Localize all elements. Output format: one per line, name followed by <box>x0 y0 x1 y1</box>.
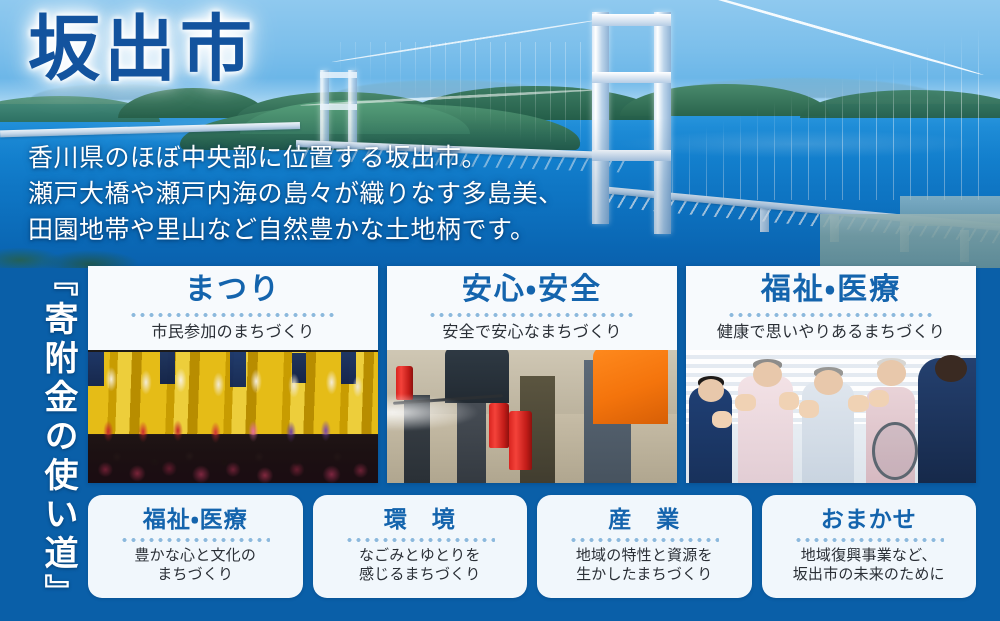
hero-description: 香川県のほぼ中央部に位置する坂出市。 瀬戸大橋や瀬戸内海の島々が織りなす多島美、… <box>28 140 564 248</box>
feature-card-header: 福祉・医療 健康で思いやりあるまちづくり <box>686 266 976 350</box>
festival-lanterns <box>88 358 378 411</box>
section-label-donation-usage: 『寄附金の使い道』 <box>22 262 74 614</box>
donation-option-description-line-1: 地域の特性と資源を <box>576 547 713 566</box>
raised-hand-3 <box>779 392 799 409</box>
extinguisher-spray <box>387 390 497 435</box>
donation-option-description-line-1: 豊かな心と文化の <box>134 547 256 566</box>
donation-option-description: 豊かな心と文化の まちづくり <box>134 547 256 585</box>
feature-card-subtitle: 安全で安心なまちづくり <box>393 323 671 342</box>
raised-hand-6 <box>869 390 889 407</box>
donation-option-description: 地域復興事業など、 坂出市の未来のために <box>793 547 945 585</box>
donation-option-sangyo[interactable]: 産 業 地域の特性と資源を 生かしたまちづくり <box>537 495 752 598</box>
donation-option-title: 福祉・医療 <box>143 507 248 532</box>
fire-extinguisher-drill-photo <box>387 350 677 483</box>
feature-card-subtitle: 健康で思いやりあるまちづくり <box>692 323 970 342</box>
hero-description-line-1: 香川県のほぼ中央部に位置する坂出市。 <box>28 140 564 176</box>
donation-option-description-line-2: まちづくり <box>134 566 256 585</box>
dotted-divider <box>129 313 338 317</box>
raised-hand-1 <box>712 411 732 428</box>
feature-card-fukushi-iryo[interactable]: 福祉・医療 健康で思いやりあるまちづくり <box>686 266 976 483</box>
donation-option-description-line-2: 生かしたまちづくり <box>576 566 713 585</box>
donation-option-title: 環 境 <box>384 507 456 532</box>
feature-card-title: 安心・安全 <box>393 274 671 306</box>
participant-3-head <box>877 360 906 385</box>
feature-card-subtitle: 市民参加のまちづくり <box>94 323 372 342</box>
donation-option-description-line-1: なごみとゆとりを <box>359 547 481 566</box>
bridge-tower-crossbeam-1 <box>592 14 671 26</box>
donation-option-fukushi-iryo[interactable]: 福祉・医療 豊かな心と文化の まちづくり <box>88 495 303 598</box>
festival-crowd-heads <box>88 443 378 478</box>
raised-hand-2 <box>735 394 755 411</box>
dotted-divider <box>428 313 637 317</box>
bridge-tower-crossbeam-2 <box>592 72 671 83</box>
wheelchair-1 <box>872 422 918 481</box>
hero-description-line-3: 田園地帯や里山など自然豊かな土地柄です。 <box>28 212 564 248</box>
dotted-divider <box>120 538 270 542</box>
raised-hand-5 <box>848 395 868 412</box>
page-title: 坂出市 <box>28 14 256 86</box>
donation-option-description-line-1: 地域復興事業など、 <box>793 547 945 566</box>
bridge-far-tower-crossbeam-2 <box>320 104 357 110</box>
feature-card-anshin-anzen[interactable]: 安心・安全 安全で安心なまちづくり <box>387 266 677 483</box>
dotted-divider <box>794 538 944 542</box>
feature-card-title: 福祉・医療 <box>692 274 970 306</box>
festival-floats-night-photo <box>88 350 378 483</box>
participant-2-head <box>814 370 843 395</box>
hero-description-line-2: 瀬戸大橋や瀬戸内海の島々が織りなす多島美、 <box>28 176 564 212</box>
donation-option-kankyo[interactable]: 環 境 なごみとゆとりを 感じるまちづくり <box>313 495 528 598</box>
instructor-head <box>935 355 967 382</box>
dotted-divider <box>727 313 936 317</box>
dotted-divider <box>569 538 719 542</box>
participant-1-head <box>753 362 782 387</box>
donation-option-description-line-2: 坂出市の未来のために <box>793 566 945 585</box>
dotted-divider <box>345 538 495 542</box>
bridge-far-tower-crossbeam-1 <box>320 72 357 78</box>
sakaide-city-donation-poster: 坂出市 香川県のほぼ中央部に位置する坂出市。 瀬戸大橋や瀬戸内海の島々が織りなす… <box>0 0 1000 621</box>
feature-card-header: 安心・安全 安全で安心なまちづくり <box>387 266 677 350</box>
raised-hand-4 <box>799 400 819 417</box>
donation-option-description-line-2: 感じるまちづくり <box>359 566 481 585</box>
fire-extinguisher-3 <box>509 411 532 470</box>
orange-safety-vest <box>593 350 668 425</box>
feature-card-matsuri[interactable]: まつり 市民参加のまちづくり <box>88 266 378 483</box>
feature-card-title: まつり <box>94 274 372 306</box>
feature-card-list: まつり 市民参加のまちづくり 安心・安全 安全で安心なまちづくり <box>88 266 976 483</box>
donation-usage-option-list: 福祉・医療 豊かな心と文化の まちづくり 環 境 なごみとゆとりを 感じるまちづ… <box>88 495 976 598</box>
donation-option-description: なごみとゆとりを 感じるまちづくり <box>359 547 481 585</box>
donation-option-title: 産 業 <box>608 507 680 532</box>
caregiver-head <box>698 379 724 402</box>
feature-card-header: まつり 市民参加のまちづくり <box>88 266 378 350</box>
donation-option-omakase[interactable]: おまかせ 地域復興事業など、 坂出市の未来のために <box>762 495 977 598</box>
elderly-exercise-class-photo <box>686 350 976 483</box>
donation-option-description: 地域の特性と資源を 生かしたまちづくり <box>576 547 713 585</box>
elderly-participant-2 <box>802 382 854 483</box>
donation-option-title: おまかせ <box>821 507 917 532</box>
